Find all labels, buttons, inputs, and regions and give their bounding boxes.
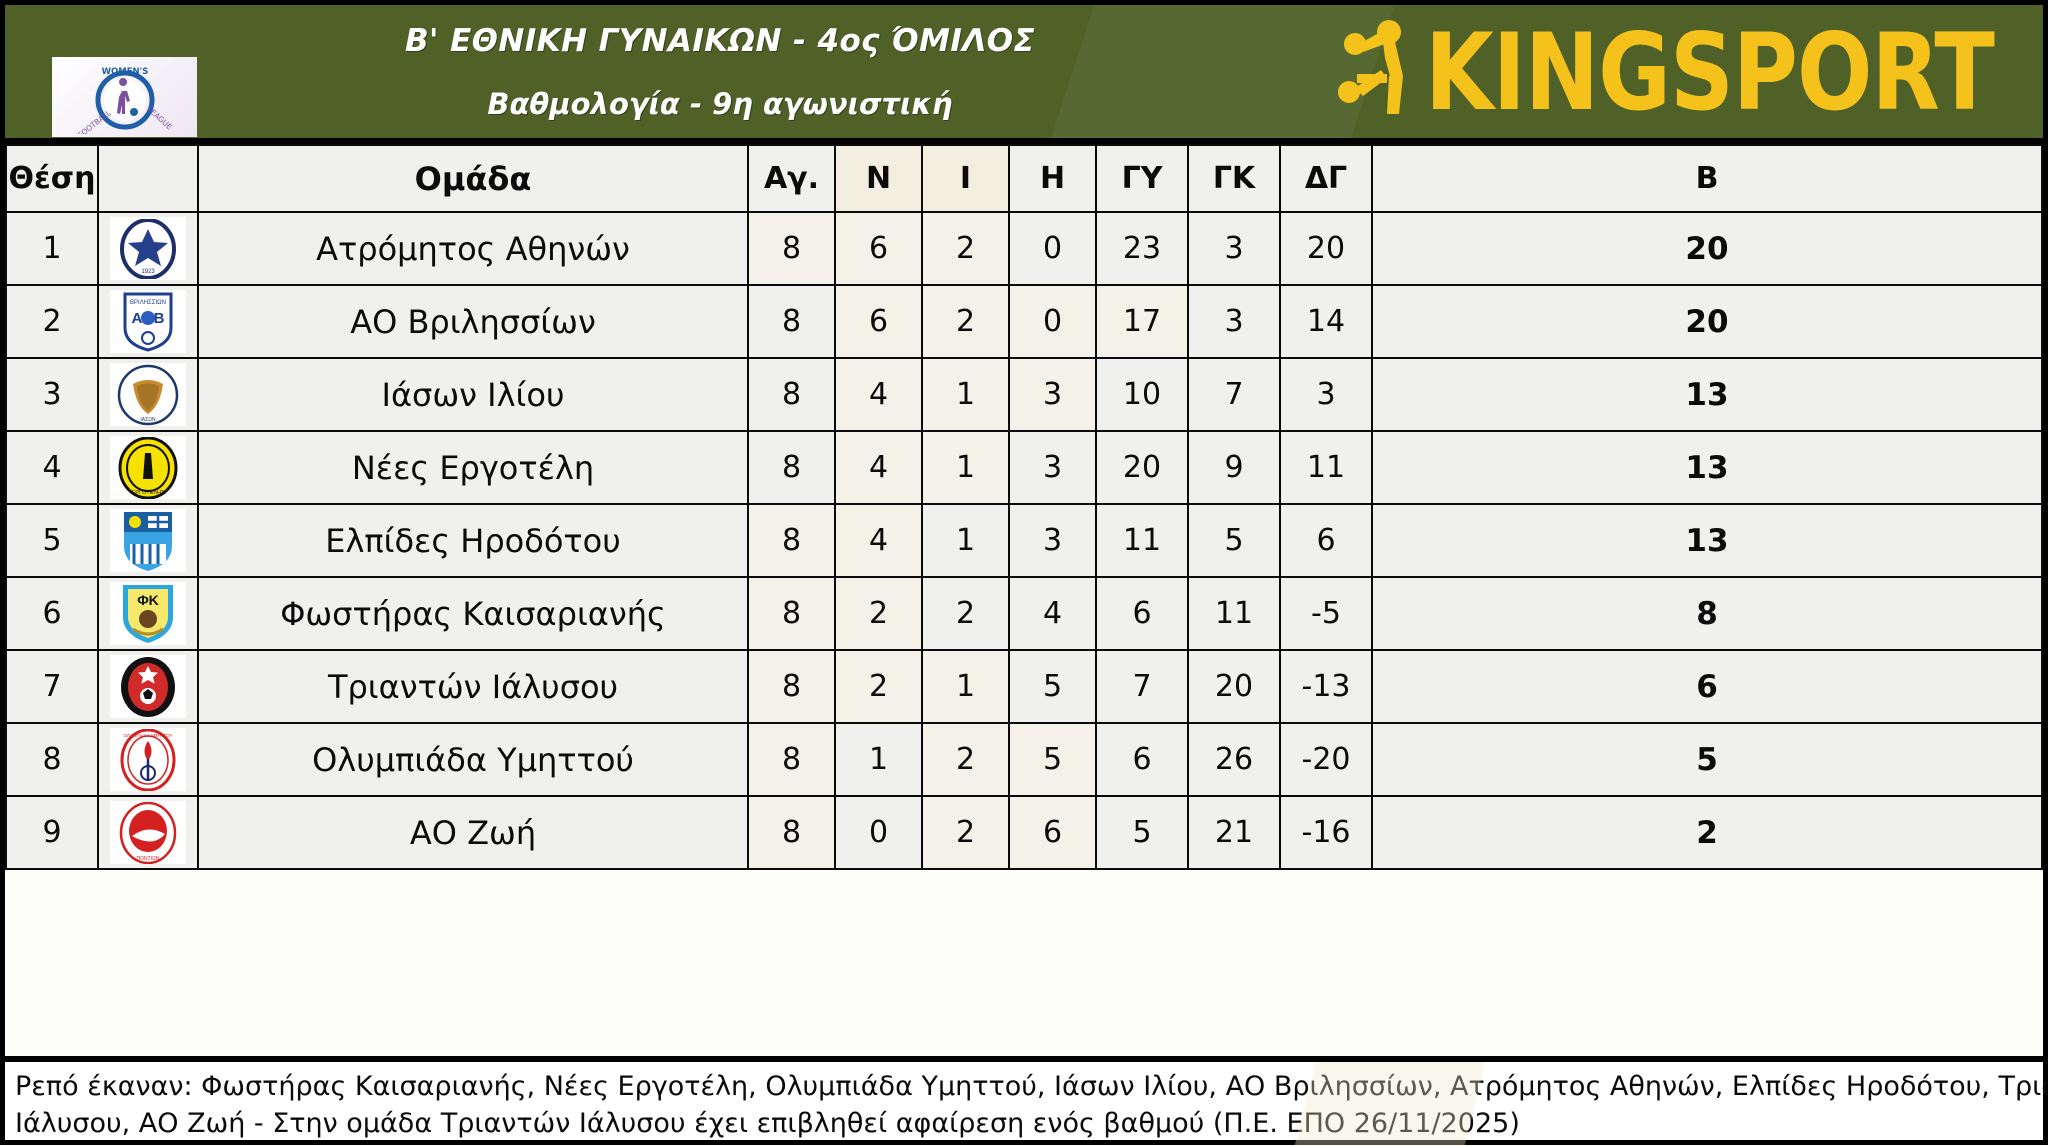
cell-position: 1 [6,212,98,285]
cell-wins: 4 [835,504,922,577]
footnote-line-1: Ρεπό έκαναν: Φωστήρας Καισαριανής, Νέες … [15,1068,2033,1105]
cell-team-name: Ιάσων Ιλίου [198,358,748,431]
col-header-team: Ομάδα [198,145,748,212]
cell-goals-for: 23 [1096,212,1188,285]
cell-points: 13 [1372,358,2042,431]
cell-goals-against: 7 [1188,358,1280,431]
cell-points: 6 [1372,650,2042,723]
cell-crest [98,504,198,577]
page-title: Β' ΕΘΝΙΚΗ ΓΥΝΑΙΚΩΝ - 4ος ΌΜΙΛΟΣ [405,23,1035,59]
cell-points: 20 [1372,212,2042,285]
cell-goals-against: 3 [1188,285,1280,358]
cell-crest: ΠΟΝΤΙΩΝ [98,796,198,869]
cell-wins: 1 [835,723,922,796]
kingsport-wordmark: KINGSPORT [1425,20,1994,126]
cell-crest: 1923 [98,212,198,285]
table-row[interactable]: 7Τριαντών Ιάλυσου8215720-136 [6,650,2042,723]
cell-points: 5 [1372,723,2042,796]
svg-text:WOMEN'S: WOMEN'S [101,67,148,77]
col-header-draws: Ι [922,145,1009,212]
cell-team-name: Τριαντών Ιάλυσου [198,650,748,723]
cell-losses: 3 [1009,358,1096,431]
cell-team-name: Ολυμπιάδα Υμηττού [198,723,748,796]
cell-goals-for: 11 [1096,504,1188,577]
col-header-goals-against: ΓΚ [1188,145,1280,212]
cell-losses: 6 [1009,796,1096,869]
iason-iliou-crest: ΙΑΣΩΝ [110,363,186,426]
cell-draws: 1 [922,431,1009,504]
cell-played: 8 [748,285,835,358]
cell-wins: 0 [835,796,922,869]
cell-goal-diff: 6 [1280,504,1372,577]
col-header-goal-diff: ΔΓ [1280,145,1372,212]
cell-goals-for: 10 [1096,358,1188,431]
cell-position: 9 [6,796,98,869]
footnote-line-2: Ιάλυσου, ΑΟ Ζωή - Στην ομάδα Τριαντών Ιά… [15,1105,2033,1142]
col-header-wins: Ν [835,145,922,212]
nees-ergoteli-crest: ΕΡΓΟΤΕΛΗΣ [110,436,186,499]
cell-losses: 4 [1009,577,1096,650]
cell-played: 8 [748,431,835,504]
table-row[interactable]: 5Ελπίδες Ηροδότου8413115613 [6,504,2042,577]
cell-draws: 2 [922,212,1009,285]
cell-played: 8 [748,796,835,869]
table-row[interactable]: 11923Ατρόμητος Αθηνών86202332020 [6,212,2042,285]
table-row[interactable]: 4ΕΡΓΟΤΕΛΗΣΝέες Εργοτέλη84132091113 [6,431,2042,504]
cell-wins: 6 [835,212,922,285]
kingsport-athlete-icon [1333,14,1425,132]
cell-goal-diff: -16 [1280,796,1372,869]
cell-points: 20 [1372,285,2042,358]
cell-goals-for: 6 [1096,577,1188,650]
atromitos-athinon-crest: 1923 [110,217,186,280]
cell-position: 3 [6,358,98,431]
table-row[interactable]: 3ΙΑΣΩΝΙάσων Ιλίου8413107313 [6,358,2042,431]
cell-played: 8 [748,212,835,285]
cell-crest: ΟΛΥΜΠΙΑΔΑ ΥΜΗΤΤΟΥ [98,723,198,796]
cell-losses: 3 [1009,504,1096,577]
cell-goals-against: 3 [1188,212,1280,285]
cell-wins: 4 [835,358,922,431]
league-logo: WOMEN'S FOOTBALL LEAGUE [52,57,197,137]
svg-text:ΠΟΝΤΙΩΝ: ΠΟΝΤΙΩΝ [137,856,160,862]
ao-vrilission-crest: ΒΡΙΛΗΣΣΙΩΝΑΟΒ [110,290,186,353]
cell-position: 7 [6,650,98,723]
cell-goals-for: 7 [1096,650,1188,723]
col-header-goals-for: ΓΥ [1096,145,1188,212]
col-header-losses: Η [1009,145,1096,212]
cell-draws: 1 [922,650,1009,723]
col-header-played: Αγ. [748,145,835,212]
cell-points: 13 [1372,504,2042,577]
cell-goal-diff: 11 [1280,431,1372,504]
cell-goals-against: 26 [1188,723,1280,796]
svg-text:ΒΡΙΛΗΣΣΙΩΝ: ΒΡΙΛΗΣΣΙΩΝ [130,300,166,306]
cell-team-name: Φωστήρας Καισαριανής [198,577,748,650]
olympiada-ymittou-crest: ΟΛΥΜΠΙΑΔΑ ΥΜΗΤΤΟΥ [110,728,186,791]
cell-crest [98,650,198,723]
col-header-crest [98,145,198,212]
ao-zoi-crest: ΠΟΝΤΙΩΝ [110,801,186,864]
cell-goals-for: 5 [1096,796,1188,869]
cell-team-name: Ατρόμητος Αθηνών [198,212,748,285]
standings-sheet: WOMEN'S FOOTBALL LEAGUE Β' ΕΘΝΙΚΗ ΓΥΝΑΙΚ… [0,0,2048,1145]
cell-played: 8 [748,577,835,650]
standings-table: Θέση Ομάδα Αγ. Ν Ι Η ΓΥ ΓΚ ΔΓ Β 11923Ατρ… [5,144,2043,870]
cell-position: 5 [6,504,98,577]
cell-goals-for: 6 [1096,723,1188,796]
cell-draws: 2 [922,577,1009,650]
cell-team-name: Νέες Εργοτέλη [198,431,748,504]
cell-wins: 2 [835,650,922,723]
table-body: 11923Ατρόμητος Αθηνών862023320202ΒΡΙΛΗΣΣ… [6,212,2042,869]
svg-text:LEAGUE: LEAGUE [145,105,173,132]
cell-wins: 4 [835,431,922,504]
cell-team-name: ΑΟ Βριλησσίων [198,285,748,358]
cell-points: 2 [1372,796,2042,869]
cell-draws: 1 [922,504,1009,577]
cell-draws: 2 [922,285,1009,358]
cell-wins: 6 [835,285,922,358]
cell-goals-against: 20 [1188,650,1280,723]
cell-position: 2 [6,285,98,358]
banner-title-block: Β' ΕΘΝΙΚΗ ΓΥΝΑΙΚΩΝ - 4ος ΌΜΙΛΟΣ Βαθμολογ… [215,5,1225,138]
cell-team-name: Ελπίδες Ηροδότου [198,504,748,577]
svg-text:ΟΛΥΜΠΙΑΔΑ ΥΜΗΤΤΟΥ: ΟΛΥΜΠΙΑΔΑ ΥΜΗΤΤΟΥ [123,733,172,738]
table-row[interactable]: 9ΠΟΝΤΙΩΝΑΟ Ζωή8026521-162 [6,796,2042,869]
cell-goal-diff: -20 [1280,723,1372,796]
triandon-ialysou-crest [110,655,186,718]
cell-goals-against: 11 [1188,577,1280,650]
table-row[interactable]: 6ΦΚΦωστήρας Καισαριανής8224611-58 [6,577,2042,650]
cell-losses: 3 [1009,431,1096,504]
cell-played: 8 [748,723,835,796]
cell-goal-diff: 14 [1280,285,1372,358]
cell-draws: 1 [922,358,1009,431]
table-header-row: Θέση Ομάδα Αγ. Ν Ι Η ΓΥ ΓΚ ΔΓ Β [6,145,2042,212]
table-row[interactable]: 8ΟΛΥΜΠΙΑΔΑ ΥΜΗΤΤΟΥΟλυμπιάδα Υμηττού81256… [6,723,2042,796]
cell-position: 6 [6,577,98,650]
cell-crest: ΙΑΣΩΝ [98,358,198,431]
page-subtitle: Βαθμολογία - 9η αγωνιστική [487,87,952,121]
cell-losses: 0 [1009,212,1096,285]
cell-draws: 2 [922,723,1009,796]
cell-crest: ΦΚ [98,577,198,650]
elpides-irodotou-crest [110,509,186,572]
table-row[interactable]: 2ΒΡΙΛΗΣΣΙΩΝΑΟΒΑΟ Βριλησσίων86201731420 [6,285,2042,358]
womens-football-league-logo-icon: WOMEN'S FOOTBALL LEAGUE [66,60,184,134]
cell-goal-diff: 20 [1280,212,1372,285]
cell-goal-diff: -5 [1280,577,1372,650]
cell-position: 4 [6,431,98,504]
svg-text:1923: 1923 [141,269,155,275]
cell-played: 8 [748,358,835,431]
cell-points: 13 [1372,431,2042,504]
cell-crest: ΕΡΓΟΤΕΛΗΣ [98,431,198,504]
cell-crest: ΒΡΙΛΗΣΣΙΩΝΑΟΒ [98,285,198,358]
svg-text:ΕΡΓΟΤΕΛΗΣ: ΕΡΓΟΤΕΛΗΣ [132,490,165,496]
footnote: Ρεπό έκαναν: Φωστήρας Καισαριανής, Νέες … [5,1056,2043,1140]
cell-played: 8 [748,504,835,577]
kingsport-brand: KINGSPORT [1333,9,2037,137]
cell-losses: 0 [1009,285,1096,358]
cell-losses: 5 [1009,723,1096,796]
cell-wins: 2 [835,577,922,650]
cell-goal-diff: -13 [1280,650,1372,723]
fostiras-kaisarianis-crest: ΦΚ [110,582,186,645]
cell-played: 8 [748,650,835,723]
cell-team-name: ΑΟ Ζωή [198,796,748,869]
cell-position: 8 [6,723,98,796]
cell-goals-against: 21 [1188,796,1280,869]
cell-points: 8 [1372,577,2042,650]
cell-goals-against: 5 [1188,504,1280,577]
cell-losses: 5 [1009,650,1096,723]
page-header: WOMEN'S FOOTBALL LEAGUE Β' ΕΘΝΙΚΗ ΓΥΝΑΙΚ… [5,5,2043,144]
cell-goals-for: 20 [1096,431,1188,504]
col-header-points: Β [1372,145,2042,212]
cell-goal-diff: 3 [1280,358,1372,431]
svg-text:ΦΚ: ΦΚ [137,592,159,608]
cell-goals-against: 9 [1188,431,1280,504]
svg-text:ΙΑΣΩΝ: ΙΑΣΩΝ [140,417,156,423]
cell-draws: 2 [922,796,1009,869]
cell-goals-for: 17 [1096,285,1188,358]
col-header-position: Θέση [6,145,98,212]
